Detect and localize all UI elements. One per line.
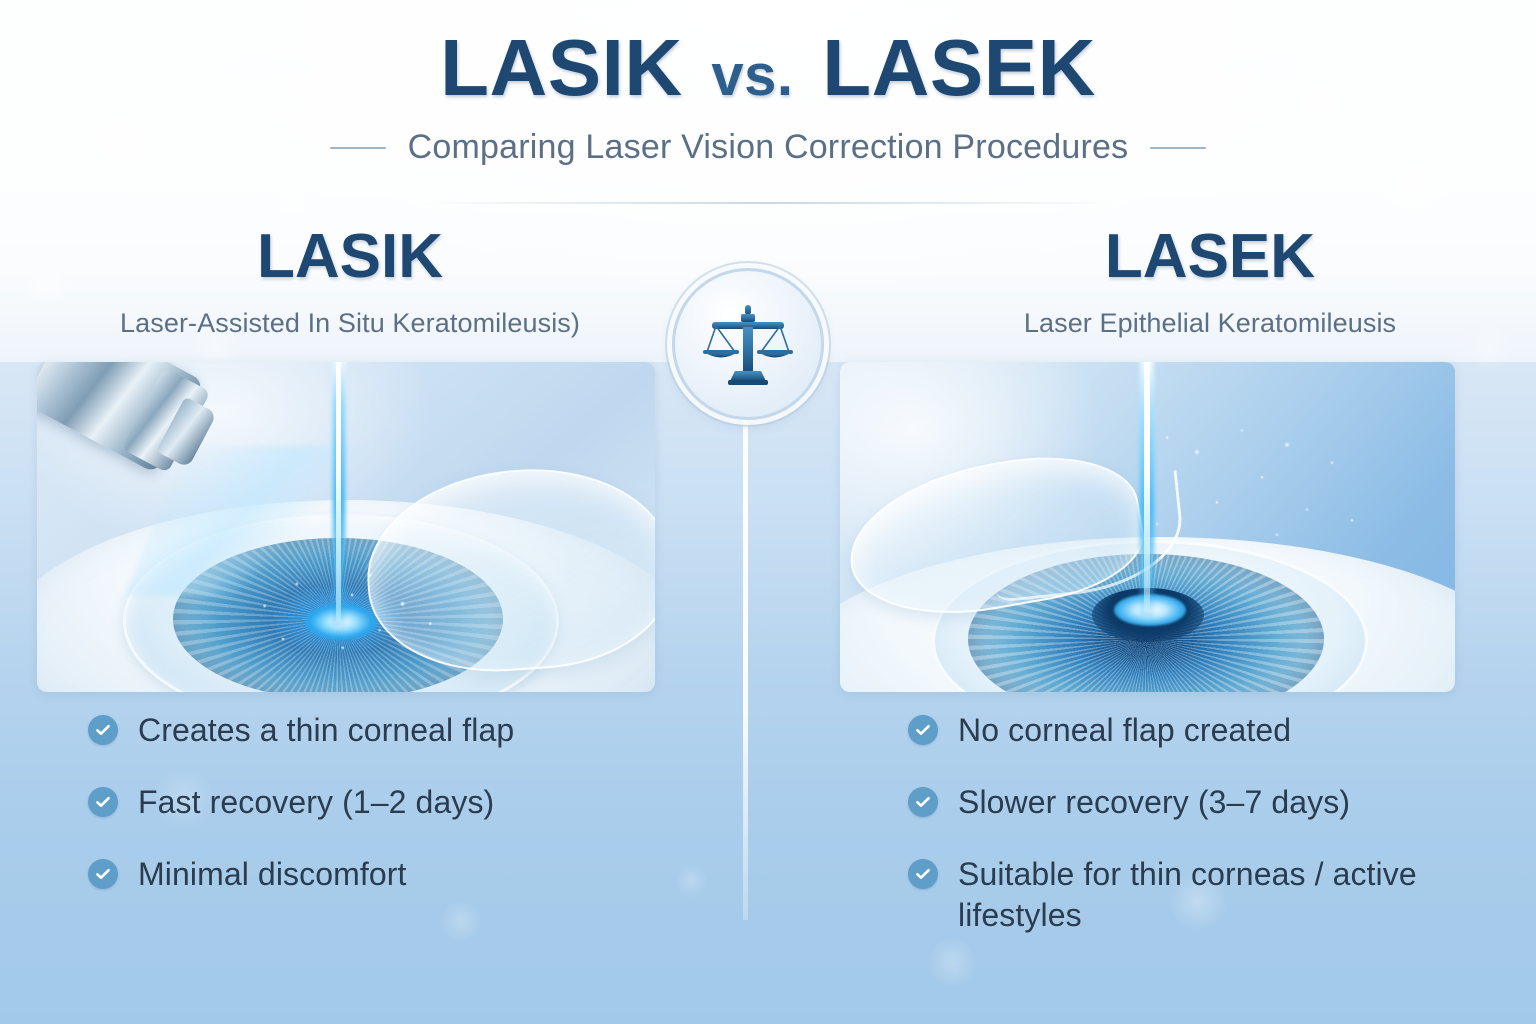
lasek-laser-beam-core [1144,362,1150,612]
lasik-laser-beam-core [336,362,341,622]
column-subtitle-lasek: Laser Epithelial Keratomileusis [900,308,1520,339]
title-lasik: LASIK [440,23,683,112]
illustration-lasik [37,362,655,692]
column-heading-lasek: LASEK Laser Epithelial Keratomileusis [900,226,1520,339]
list-item: Minimal discomfort [88,854,688,895]
infographic-canvas: LASIK vs. LASEK Comparing Laser Vision C… [0,0,1536,1024]
check-circle-icon [88,715,118,745]
list-item: Creates a thin corneal flap [88,710,688,751]
column-title-lasik: LASIK [40,226,660,288]
page-subtitle: Comparing Laser Vision Correction Proced… [408,128,1129,167]
column-divider-line [743,400,748,920]
page-title: LASIK vs. LASEK [0,22,1536,114]
column-heading-lasik: LASIK Laser-Assisted In Situ Keratomileu… [40,226,660,339]
illustration-lasek [840,362,1455,692]
list-item: Fast recovery (1–2 days) [88,782,688,823]
list-item: Suitable for thin corneas / active lifes… [908,854,1468,936]
check-circle-icon [88,787,118,817]
subtitle-rule-right [1150,147,1206,149]
list-item: No corneal flap created [908,710,1468,751]
list-item-label: Minimal discomfort [138,854,407,895]
check-circle-icon [908,715,938,745]
list-item-label: Fast recovery (1–2 days) [138,782,494,823]
list-item: Slower recovery (3–7 days) [908,782,1468,823]
column-title-lasek: LASEK [900,226,1520,288]
title-lasek: LASEK [822,23,1096,112]
comparison-badge [672,268,824,420]
feature-list-lasik: Creates a thin corneal flap Fast recover… [88,710,688,926]
list-item-label: No corneal flap created [958,710,1291,751]
column-subtitle-lasik: Laser-Assisted In Situ Keratomileusis) [40,308,660,339]
list-item-label: Creates a thin corneal flap [138,710,514,751]
title-vs: vs. [705,43,799,108]
subtitle-row: Comparing Laser Vision Correction Proced… [0,128,1536,167]
check-circle-icon [908,859,938,889]
list-item-label: Slower recovery (3–7 days) [958,782,1350,823]
header-hairline-divider [420,202,1120,204]
subtitle-rule-left [330,147,386,149]
feature-list-lasek: No corneal flap created Slower recovery … [908,710,1468,967]
check-circle-icon [908,787,938,817]
check-circle-icon [88,859,118,889]
balance-scales-icon [702,301,794,387]
list-item-label: Suitable for thin corneas / active lifes… [958,854,1468,936]
